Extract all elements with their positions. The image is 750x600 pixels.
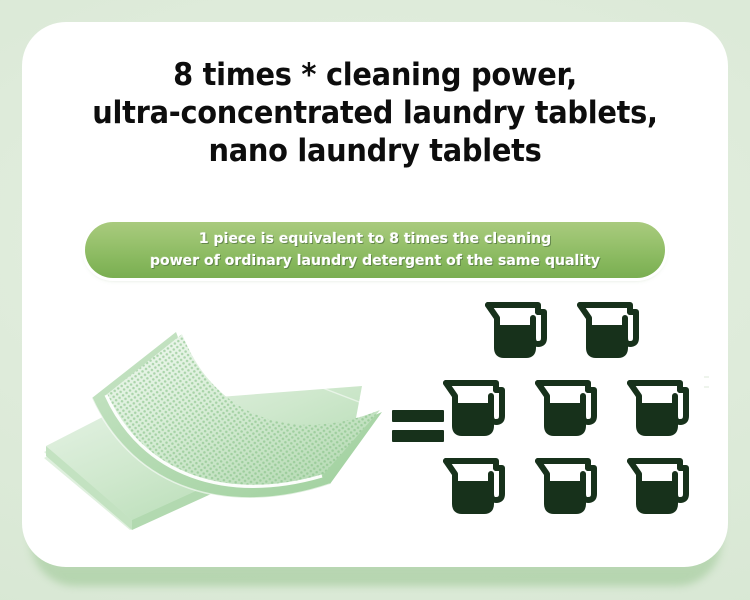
cup-row-3 <box>440 454 696 518</box>
cup-row-2 <box>440 376 696 440</box>
banner-line-1: 1 piece is equivalent to 8 times the cle… <box>150 228 600 250</box>
white-card: 8 times * cleaning power, ultra-concentr… <box>22 22 728 567</box>
measuring-cup-icon <box>532 454 604 518</box>
measuring-cup-icon <box>532 376 604 440</box>
measuring-cup-icon <box>574 298 646 362</box>
equals-bar-bottom <box>392 430 444 442</box>
laundry-sheet-illustration <box>30 292 400 557</box>
poster-root: 8 times * cleaning power, ultra-concentr… <box>0 0 750 600</box>
illustration-area <box>22 284 728 567</box>
cup-row-1 <box>482 298 646 362</box>
title-line-1: 8 times * cleaning power, <box>47 56 704 94</box>
title-line-3: nano laundry tablets <box>47 132 704 170</box>
measuring-cup-icon <box>440 454 512 518</box>
title-line-2: ultra-concentrated laundry tablets, <box>47 94 704 132</box>
page-title: 8 times * cleaning power, ultra-concentr… <box>47 56 704 170</box>
measuring-cup-icon <box>624 454 696 518</box>
claim-banner: 1 piece is equivalent to 8 times the cle… <box>85 222 665 278</box>
measuring-cups-group <box>440 298 710 538</box>
banner-text: 1 piece is equivalent to 8 times the cle… <box>136 228 613 272</box>
measuring-cup-icon <box>624 376 696 440</box>
banner-line-2: power of ordinary laundry detergent of t… <box>150 250 600 272</box>
measuring-cup-icon <box>482 298 554 362</box>
measuring-cup-icon <box>440 376 512 440</box>
banner-wrapper: 1 piece is equivalent to 8 times the cle… <box>22 214 728 290</box>
equals-bar-top <box>392 410 444 422</box>
decorative-edge-marks <box>704 376 712 402</box>
